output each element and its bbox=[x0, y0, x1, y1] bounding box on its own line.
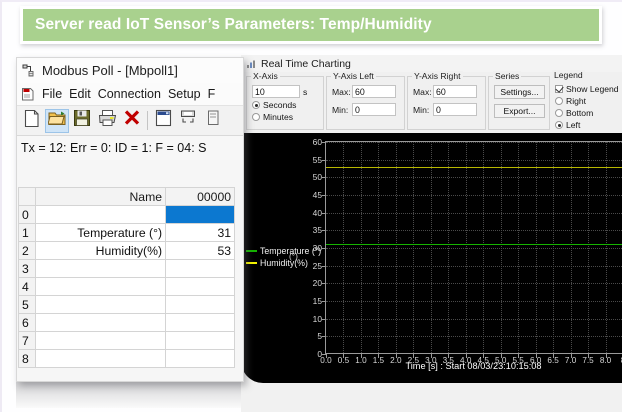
gridline-vertical bbox=[501, 142, 502, 353]
gridline-horizontal bbox=[326, 160, 622, 161]
y-right-min-input[interactable]: 0 bbox=[433, 103, 477, 116]
y-axis-tick-label: 55 bbox=[298, 155, 322, 165]
y-axis-tick-mark bbox=[322, 319, 326, 320]
gridline-horizontal bbox=[326, 266, 622, 267]
y-axis-right-group: Y-Axis Right Max: 60 Min: 0 bbox=[407, 76, 486, 130]
print-icon bbox=[98, 109, 117, 132]
x-axis-tick-mark bbox=[396, 354, 397, 358]
extra-tool-button[interactable] bbox=[201, 109, 225, 133]
modbus-titlebar: Modbus Poll - [Mbpoll1] bbox=[17, 58, 243, 83]
y-left-max-label: Max: bbox=[332, 87, 349, 97]
charting-controls-panel: X-Axis 10 s Seconds Minutes Y-Axis Left bbox=[241, 72, 622, 132]
show-legend-label: Show Legend bbox=[566, 84, 619, 94]
y-axis-tick-mark bbox=[322, 283, 326, 284]
radio-seconds-label: Seconds bbox=[263, 100, 296, 110]
x-axis-tick-mark bbox=[606, 354, 607, 358]
modbus-menubar: File Edit Connection Setup F bbox=[17, 83, 243, 105]
row-name[interactable] bbox=[36, 314, 166, 332]
radio-minutes[interactable]: Minutes bbox=[252, 112, 319, 122]
menu-setup[interactable]: Setup bbox=[168, 87, 201, 101]
modbus-status-bar: Tx = 12: Err = 0: ID = 1: F = 04: S bbox=[17, 136, 243, 160]
gridline-vertical bbox=[466, 142, 467, 353]
y-left-max-input[interactable]: 60 bbox=[352, 85, 396, 98]
modbus-poll-window: Modbus Poll - [Mbpoll1] File Edit Connec… bbox=[16, 57, 244, 382]
x-axis-tick-mark bbox=[501, 354, 502, 358]
row-name[interactable] bbox=[36, 350, 166, 368]
table-row[interactable]: 5 bbox=[19, 296, 235, 314]
gridline-vertical bbox=[448, 142, 449, 353]
x-axis-tick-mark bbox=[448, 354, 449, 358]
chart-legend: Temperature (°) Humidity(%) bbox=[246, 246, 321, 268]
modbus-app-icon bbox=[22, 63, 37, 78]
y-left-min-input[interactable]: 0 bbox=[352, 103, 396, 116]
gridline-vertical bbox=[431, 142, 432, 353]
x-axis-tick-mark bbox=[431, 354, 432, 358]
menu-edit[interactable]: Edit bbox=[69, 87, 91, 101]
y-left-min-label: Min: bbox=[332, 105, 349, 115]
x-axis-tick-mark bbox=[361, 354, 362, 358]
radio-seconds-indicator[interactable] bbox=[252, 101, 260, 109]
table-row[interactable]: 3 bbox=[19, 260, 235, 278]
save-file-button[interactable] bbox=[70, 109, 94, 133]
y-axis-tick-mark bbox=[322, 213, 326, 214]
y-right-max-input[interactable]: 60 bbox=[433, 85, 477, 98]
radio-minutes-indicator[interactable] bbox=[252, 113, 260, 121]
chart-icon bbox=[246, 59, 257, 69]
register-grid-container: Name 00000 0 1 Temperature (°) 31 bbox=[17, 185, 244, 382]
y-right-max-row: Max: 60 bbox=[413, 85, 481, 98]
row-index: 0 bbox=[19, 206, 36, 224]
x-axis-line bbox=[325, 353, 622, 354]
charting-window-title: Real Time Charting bbox=[261, 58, 351, 70]
page-title: Server read IoT Sensor’s Parameters: Tem… bbox=[35, 16, 432, 34]
legend-left-label: Left bbox=[566, 120, 580, 130]
y-axis-tick-mark bbox=[322, 195, 326, 196]
read-write-icon bbox=[179, 109, 197, 132]
y-left-max-row: Max: 60 bbox=[332, 85, 400, 98]
delete-button[interactable] bbox=[120, 109, 144, 133]
x-axis-tick-mark bbox=[466, 354, 467, 358]
row-name[interactable]: Humidity(%) bbox=[36, 242, 166, 260]
legend-item-temperature: Temperature (°) bbox=[246, 246, 321, 256]
table-row[interactable]: 6 bbox=[19, 314, 235, 332]
x-axis-tick-mark bbox=[536, 354, 537, 358]
y-axis-tick-mark bbox=[322, 301, 326, 302]
page-root: Server read IoT Sensor’s Parameters: Tem… bbox=[0, 0, 622, 412]
legend-group-label: Legend bbox=[552, 70, 585, 80]
row-name[interactable] bbox=[36, 206, 166, 224]
y-axis-tick-label: 35 bbox=[298, 225, 322, 235]
y-left-min-row: Min: 0 bbox=[332, 103, 400, 116]
status-text: Tx = 12: Err = 0: ID = 1: F = 04: S bbox=[21, 141, 207, 155]
table-row[interactable]: 7 bbox=[19, 332, 235, 350]
radio-seconds[interactable]: Seconds bbox=[252, 100, 319, 110]
legend-swatch-temperature bbox=[246, 250, 257, 252]
y-right-min-label: Min: bbox=[413, 105, 430, 115]
legend-right-label: Right bbox=[566, 96, 586, 106]
toolbar-separator bbox=[147, 111, 148, 130]
row-index: 1 bbox=[19, 224, 36, 242]
gridline-horizontal bbox=[326, 336, 622, 337]
y-axis-tick-label: 0 bbox=[298, 349, 322, 359]
row-index: 8 bbox=[19, 350, 36, 368]
row-index: 7 bbox=[19, 332, 36, 350]
gridline-vertical bbox=[413, 142, 414, 353]
modbus-toolbar bbox=[17, 105, 243, 136]
x-axis-tick-mark bbox=[588, 354, 589, 358]
row-value[interactable] bbox=[166, 314, 235, 332]
gridline-horizontal bbox=[326, 177, 622, 178]
legend-bottom-label: Bottom bbox=[566, 108, 593, 118]
x-axis-tick-mark bbox=[553, 354, 554, 358]
new-document-icon bbox=[23, 109, 41, 133]
header-index bbox=[19, 188, 36, 206]
table-row[interactable]: 2 Humidity(%) 53 bbox=[19, 242, 235, 260]
x-axis-tick-mark bbox=[343, 354, 344, 358]
modbus-window-title: Modbus Poll - [Mbpoll1] bbox=[42, 63, 178, 78]
x-axis-tick-mark bbox=[378, 354, 379, 358]
register-grid: Name 00000 0 1 Temperature (°) 31 bbox=[18, 187, 235, 368]
y-right-min-row: Min: 0 bbox=[413, 103, 481, 116]
row-name[interactable] bbox=[36, 332, 166, 350]
x-axis-tick-mark bbox=[483, 354, 484, 358]
gridline-horizontal bbox=[326, 230, 622, 231]
x-axis-input-row: 10 s bbox=[252, 85, 319, 98]
y-axis-tick-mark bbox=[322, 177, 326, 178]
y-right-max-label: Max: bbox=[413, 87, 430, 97]
radio-minutes-label: Minutes bbox=[263, 112, 293, 122]
row-value-selected[interactable] bbox=[166, 206, 235, 224]
series-line-temperature bbox=[326, 244, 622, 245]
chart-grid-area: 0510152025303540455055600.00.51.01.52.02… bbox=[325, 141, 622, 353]
y-axis-tick-label: 20 bbox=[298, 278, 322, 288]
new-file-button[interactable] bbox=[20, 109, 44, 133]
plot-inner: 0510152025303540455055600.00.51.01.52.02… bbox=[241, 133, 622, 383]
row-name[interactable] bbox=[36, 260, 166, 278]
row-value[interactable] bbox=[166, 296, 235, 314]
gridline-vertical bbox=[343, 142, 344, 353]
legend-position-bottom[interactable]: Bottom bbox=[555, 108, 616, 118]
gridline-vertical bbox=[361, 142, 362, 353]
x-axis-unit-label: s bbox=[303, 87, 307, 97]
x-axis-tick-mark bbox=[326, 354, 327, 358]
gridline-vertical bbox=[378, 142, 379, 353]
series-settings-button[interactable]: Settings... bbox=[494, 85, 545, 99]
series-group-label: Series bbox=[493, 71, 521, 81]
series-export-button[interactable]: Export... bbox=[494, 104, 545, 118]
y-axis-left-group: Y-Axis Left Max: 60 Min: 0 bbox=[326, 76, 405, 130]
legend-position-right[interactable]: Right bbox=[555, 96, 616, 106]
gridline-horizontal bbox=[326, 283, 622, 284]
y-axis-tick-mark bbox=[322, 266, 326, 267]
x-axis-group: X-Axis 10 s Seconds Minutes bbox=[246, 76, 324, 130]
row-value[interactable]: 31 bbox=[166, 224, 235, 242]
y-axis-tick-label: 5 bbox=[298, 331, 322, 341]
x-axis-title: Time [s] : Start 08/03/23:10:15:08 bbox=[325, 361, 622, 371]
y-axis-tick-mark bbox=[322, 160, 326, 161]
checkbox-check-icon[interactable] bbox=[555, 85, 563, 93]
gridline-vertical bbox=[483, 142, 484, 353]
table-row[interactable]: 1 Temperature (°) 31 bbox=[19, 224, 235, 242]
gridline-vertical bbox=[518, 142, 519, 353]
row-name[interactable]: Temperature (°) bbox=[36, 224, 166, 242]
header-name: Name bbox=[36, 188, 166, 206]
menu-file[interactable]: File bbox=[42, 87, 62, 101]
table-row[interactable]: 0 bbox=[19, 206, 235, 224]
x-axis-group-label: X-Axis bbox=[251, 71, 280, 81]
row-value[interactable] bbox=[166, 278, 235, 296]
gridline-vertical bbox=[571, 142, 572, 353]
y-axis-tick-label: 60 bbox=[298, 137, 322, 147]
row-value[interactable] bbox=[166, 350, 235, 368]
chart-plot-area[interactable]: 0510152025303540455055600.00.51.01.52.02… bbox=[241, 133, 622, 383]
legend-group: Legend Show Legend Right Bottom Left bbox=[552, 76, 620, 130]
row-value[interactable] bbox=[166, 332, 235, 350]
series-group: Series Settings... Export... bbox=[488, 76, 550, 130]
gridline-horizontal bbox=[326, 301, 622, 302]
y-axis-tick-label: 15 bbox=[298, 296, 322, 306]
legend-swatch-humidity bbox=[246, 262, 257, 264]
read-write-button[interactable] bbox=[176, 109, 200, 133]
window-icon bbox=[155, 109, 172, 132]
menu-functions[interactable]: F bbox=[208, 87, 216, 101]
table-row[interactable]: 4 bbox=[19, 278, 235, 296]
row-name[interactable] bbox=[36, 296, 166, 314]
radio-right-indicator[interactable] bbox=[555, 97, 563, 105]
legend-position-left[interactable]: Left bbox=[555, 120, 616, 130]
row-index: 4 bbox=[19, 278, 36, 296]
row-value[interactable]: 53 bbox=[166, 242, 235, 260]
y-axis-tick-mark bbox=[322, 230, 326, 231]
legend-label-humidity: Humidity(%) bbox=[260, 258, 308, 268]
gridline-vertical bbox=[396, 142, 397, 353]
x-axis-duration-input[interactable]: 10 bbox=[252, 85, 300, 98]
legend-item-humidity: Humidity(%) bbox=[246, 258, 321, 268]
y-axis-tick-label: 45 bbox=[298, 190, 322, 200]
y-axis-right-group-label: Y-Axis Right bbox=[412, 71, 463, 81]
y-axis-tick-mark bbox=[322, 336, 326, 337]
gridline-horizontal bbox=[326, 248, 622, 249]
gridline-horizontal bbox=[326, 213, 622, 214]
table-header-row: Name 00000 bbox=[19, 188, 235, 206]
x-axis-tick-mark bbox=[518, 354, 519, 358]
gridline-horizontal bbox=[326, 195, 622, 196]
table-row[interactable]: 8 bbox=[19, 350, 235, 368]
gridline-vertical bbox=[588, 142, 589, 353]
gridline-vertical bbox=[606, 142, 607, 353]
row-index: 6 bbox=[19, 314, 36, 332]
menu-connection[interactable]: Connection bbox=[98, 87, 161, 101]
row-index: 3 bbox=[19, 260, 36, 278]
header-address: 00000 bbox=[166, 188, 235, 206]
report-icon bbox=[207, 109, 219, 132]
x-axis-tick-mark bbox=[413, 354, 414, 358]
gridline-vertical bbox=[553, 142, 554, 353]
y-axis-tick-label: 10 bbox=[298, 314, 322, 324]
title-banner-frame: Server read IoT Sensor’s Parameters: Tem… bbox=[20, 6, 602, 44]
y-axis-tick-mark bbox=[322, 248, 326, 249]
print-button[interactable] bbox=[95, 109, 119, 133]
x-axis-tick-mark bbox=[571, 354, 572, 358]
radio-left-indicator[interactable] bbox=[555, 121, 563, 129]
show-legend-checkbox[interactable]: Show Legend bbox=[555, 84, 616, 94]
series-line-humidity bbox=[326, 167, 622, 168]
title-banner: Server read IoT Sensor’s Parameters: Tem… bbox=[23, 9, 599, 41]
y-axis-tick-label: 40 bbox=[298, 208, 322, 218]
y-axis-tick-label: 50 bbox=[298, 172, 322, 182]
y-axis-tick-mark bbox=[322, 142, 326, 143]
legend-label-temperature: Temperature (°) bbox=[260, 246, 321, 256]
y-axis-left-group-label: Y-Axis Left bbox=[331, 71, 376, 81]
row-value[interactable] bbox=[166, 260, 235, 278]
modbus-window-reflection bbox=[16, 382, 244, 408]
window-properties-button[interactable] bbox=[151, 109, 175, 133]
save-floppy-icon bbox=[73, 109, 91, 132]
radio-bottom-indicator[interactable] bbox=[555, 109, 563, 117]
gridline-vertical bbox=[536, 142, 537, 353]
gridline-horizontal bbox=[326, 142, 622, 143]
row-index: 5 bbox=[19, 296, 36, 314]
row-name[interactable] bbox=[36, 278, 166, 296]
delete-x-icon bbox=[123, 109, 141, 132]
gridline-horizontal bbox=[326, 319, 622, 320]
document-icon bbox=[21, 87, 35, 102]
open-folder-icon bbox=[48, 110, 67, 132]
open-file-button[interactable] bbox=[45, 109, 69, 133]
real-time-charting-window: Real Time Charting X-Axis 10 s Seconds M… bbox=[241, 55, 622, 412]
row-index: 2 bbox=[19, 242, 36, 260]
